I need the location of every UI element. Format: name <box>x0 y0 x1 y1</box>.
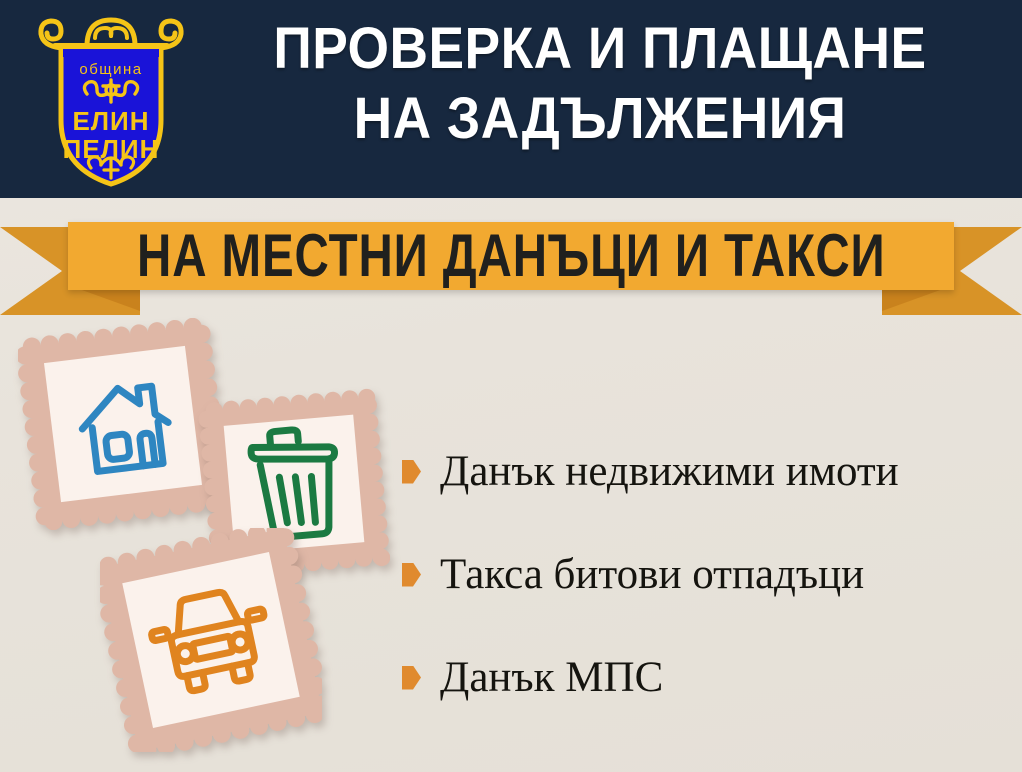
subtitle-ribbon: НА МЕСТНИ ДАНЪЦИ И ТАКСИ <box>0 197 1022 322</box>
list-item-label: Такса битови отпадъци <box>440 551 864 599</box>
header-title-block: ПРОВЕРКА И ПЛАЩАНЕ НА ЗАДЪЛЖЕНИЯ <box>190 14 1010 154</box>
elin-pelin-municipality-crest: община ЕЛИН ПЕЛИН <box>27 8 195 190</box>
list-item-label: Данък недвижими имоти <box>440 448 899 496</box>
arrow-bullet-icon <box>402 666 421 690</box>
svg-text:ЕЛИН: ЕЛИН <box>72 106 149 136</box>
list-item[interactable]: Данък недвижими имоти <box>402 420 1012 523</box>
svg-text:община: община <box>79 61 142 78</box>
list-item-label: Данък МПС <box>440 654 663 702</box>
poster-canvas: община ЕЛИН ПЕЛИН <box>0 0 1022 772</box>
list-item[interactable]: Такса битови отпадъци <box>402 523 1012 626</box>
stamp-property <box>18 318 228 530</box>
header-band: община ЕЛИН ПЕЛИН <box>0 0 1022 198</box>
ribbon-label: НА МЕСТНИ ДАНЪЦИ И ТАКСИ <box>137 226 886 286</box>
tax-type-list: Данък недвижими имоти Такса битови отпад… <box>402 420 1012 729</box>
arrow-bullet-icon <box>402 563 421 587</box>
ribbon-band: НА МЕСТНИ ДАНЪЦИ И ТАКСИ <box>68 222 954 290</box>
page-title-line-1: ПРОВЕРКА И ПЛАЩАНЕ <box>223 14 977 84</box>
stamp-vehicle <box>100 528 322 752</box>
arrow-bullet-icon <box>402 460 421 484</box>
page-title-line-2: НА ЗАДЪЛЖЕНИЯ <box>223 84 977 154</box>
list-item[interactable]: Данък МПС <box>402 626 1012 729</box>
